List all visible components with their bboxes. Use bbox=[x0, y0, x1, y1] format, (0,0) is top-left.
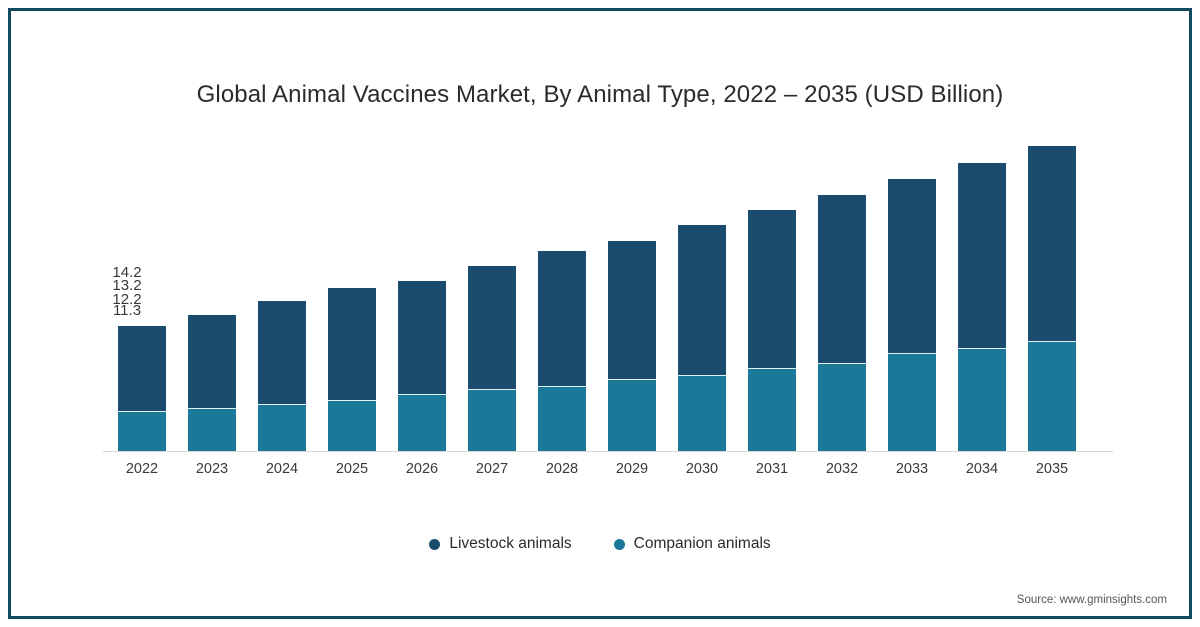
bar-segment-livestock-animals[interactable] bbox=[608, 241, 656, 379]
x-axis-tick-labels: 2022202320242025202620272028202920302031… bbox=[103, 461, 1108, 483]
bar-group[interactable] bbox=[958, 163, 1006, 451]
bar-stack bbox=[888, 179, 936, 451]
bar-segment-livestock-animals[interactable] bbox=[468, 266, 516, 389]
bar-stack bbox=[538, 251, 586, 451]
x-axis-label-2024: 2024 bbox=[244, 461, 320, 477]
bar-group[interactable] bbox=[1028, 146, 1076, 451]
bar-stack bbox=[818, 195, 866, 451]
bar-segment-companion-animals[interactable] bbox=[118, 411, 166, 451]
bar-segment-companion-animals[interactable] bbox=[188, 408, 236, 451]
bar-segment-livestock-animals[interactable] bbox=[1028, 146, 1076, 341]
bar-stack bbox=[1028, 146, 1076, 451]
bar-segment-livestock-animals[interactable] bbox=[118, 326, 166, 411]
x-axis-label-2029: 2029 bbox=[594, 461, 670, 477]
bar-stack bbox=[958, 163, 1006, 451]
bar-segment-livestock-animals[interactable] bbox=[328, 288, 376, 400]
bar-segment-livestock-animals[interactable] bbox=[538, 251, 586, 386]
bar-group[interactable] bbox=[538, 251, 586, 451]
bar-stack bbox=[118, 326, 166, 451]
bar-segment-companion-animals[interactable] bbox=[1028, 341, 1076, 451]
legend-label: Livestock animals bbox=[449, 535, 571, 553]
bar-stack bbox=[398, 281, 446, 451]
bar-segment-companion-animals[interactable] bbox=[958, 348, 1006, 451]
bar-group[interactable] bbox=[678, 225, 726, 451]
bar-value-label: 14.2 bbox=[89, 264, 165, 281]
bar-group[interactable] bbox=[748, 210, 796, 451]
bar-segment-livestock-animals[interactable] bbox=[398, 281, 446, 394]
bar-segment-companion-animals[interactable] bbox=[678, 375, 726, 451]
bar-group[interactable] bbox=[398, 281, 446, 451]
bar-group[interactable] bbox=[608, 241, 656, 451]
bar-stack bbox=[188, 315, 236, 451]
x-axis-label-2031: 2031 bbox=[734, 461, 810, 477]
chart-title: Global Animal Vaccines Market, By Animal… bbox=[11, 81, 1189, 109]
bar-segment-livestock-animals[interactable] bbox=[748, 210, 796, 368]
bar-group[interactable] bbox=[818, 195, 866, 451]
bar-segment-livestock-animals[interactable] bbox=[958, 163, 1006, 348]
x-axis-label-2030: 2030 bbox=[664, 461, 740, 477]
x-axis-label-2023: 2023 bbox=[174, 461, 250, 477]
bar-segment-companion-animals[interactable] bbox=[468, 389, 516, 451]
bar-group[interactable] bbox=[328, 288, 376, 451]
x-axis-label-2034: 2034 bbox=[944, 461, 1020, 477]
source-label: Source: www.gminsights.com bbox=[1017, 594, 1167, 606]
bar-segment-companion-animals[interactable] bbox=[538, 386, 586, 451]
x-axis-label-2028: 2028 bbox=[524, 461, 600, 477]
bar-segment-companion-animals[interactable] bbox=[608, 379, 656, 451]
x-axis-label-2025: 2025 bbox=[314, 461, 390, 477]
legend-swatch-circle-icon bbox=[429, 539, 440, 550]
bar-group[interactable] bbox=[888, 179, 936, 451]
bar-segment-companion-animals[interactable] bbox=[818, 363, 866, 451]
bar-stack bbox=[678, 225, 726, 451]
legend-label: Companion animals bbox=[634, 535, 771, 553]
legend-swatch-circle-icon bbox=[614, 539, 625, 550]
x-axis-label-2035: 2035 bbox=[1014, 461, 1090, 477]
legend-item[interactable]: Companion animals bbox=[614, 535, 771, 553]
bar-segment-livestock-animals[interactable] bbox=[258, 301, 306, 404]
x-axis-label-2022: 2022 bbox=[104, 461, 180, 477]
bar-stack bbox=[328, 288, 376, 451]
x-axis-baseline bbox=[103, 451, 1113, 452]
bar-segment-livestock-animals[interactable] bbox=[818, 195, 866, 363]
bar-stack bbox=[608, 241, 656, 451]
bar-segment-companion-animals[interactable] bbox=[748, 368, 796, 451]
x-axis-label-2032: 2032 bbox=[804, 461, 880, 477]
bar-segment-companion-animals[interactable] bbox=[398, 394, 446, 451]
x-axis-label-2026: 2026 bbox=[384, 461, 460, 477]
bar-segment-companion-animals[interactable] bbox=[258, 404, 306, 451]
bar-group[interactable] bbox=[468, 266, 516, 451]
bar-stack bbox=[258, 301, 306, 451]
bar-stack bbox=[748, 210, 796, 451]
bar-segment-livestock-animals[interactable] bbox=[188, 315, 236, 408]
x-axis-label-2027: 2027 bbox=[454, 461, 530, 477]
chart-figure: Global Animal Vaccines Market, By Animal… bbox=[8, 8, 1192, 619]
x-axis-label-2033: 2033 bbox=[874, 461, 950, 477]
bar-group[interactable] bbox=[258, 301, 306, 451]
bar-segment-livestock-animals[interactable] bbox=[888, 179, 936, 353]
bar-group[interactable] bbox=[118, 326, 166, 451]
plot-area: 11.312.213.214.2 bbox=[103, 121, 1108, 451]
bar-group[interactable] bbox=[188, 315, 236, 451]
bar-segment-livestock-animals[interactable] bbox=[678, 225, 726, 375]
chart-legend: Livestock animalsCompanion animals bbox=[11, 535, 1189, 553]
legend-item[interactable]: Livestock animals bbox=[429, 535, 571, 553]
bar-segment-companion-animals[interactable] bbox=[328, 400, 376, 451]
bar-stack bbox=[468, 266, 516, 451]
bar-segment-companion-animals[interactable] bbox=[888, 353, 936, 451]
